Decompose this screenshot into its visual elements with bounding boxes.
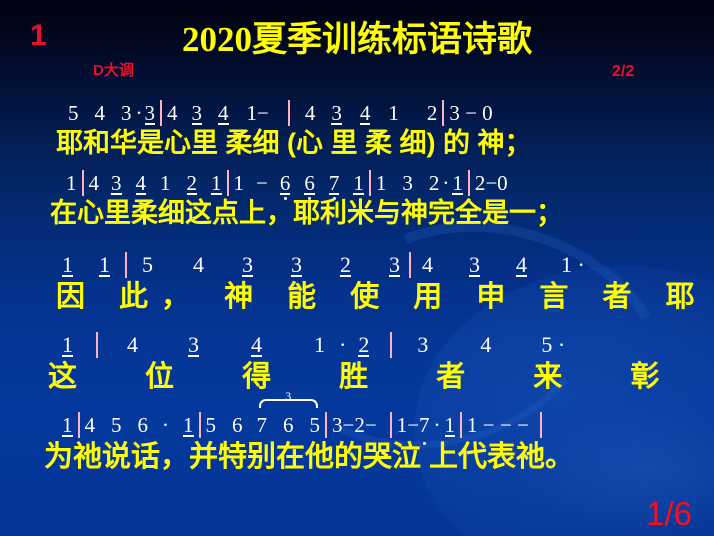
page-title: 2020夏季训练标语诗歌 [0, 20, 714, 60]
lyrics-line-1: 耶和华是心里 柔细 (心 里 柔 细) 的 神； [0, 126, 714, 160]
page-number: 1/6 [646, 497, 692, 530]
lyrics-line-4: 这 位 得 胜 者 来 彰 显 祂， [0, 358, 714, 396]
time-signature-label: 2/2 [612, 64, 634, 80]
notation-line-1: 543·34341−434123 − 0 [0, 100, 714, 126]
slide-canvas: 1 2020夏季训练标语诗歌 D大调 2/2 1/6 543·34341−434… [0, 0, 714, 536]
lyrics-line-2: 在心里柔细这点上，耶利米与神完全是一； [0, 196, 714, 230]
notation-row-4: 14341·2345 · 这 位 得 胜 者 来 彰 显 祂， [0, 332, 714, 396]
notation-line-3: 115433234341 · [0, 252, 714, 278]
notation-row-1: 543·34341−434123 − 0 耶和华是心里 柔细 (心 里 柔 细)… [0, 100, 714, 160]
lyrics-line-5: 为祂说话，并特别在他的哭泣 上代表祂。 [0, 438, 714, 476]
lyrics-line-3: 因 此， 神 能 使 用 申 言 者 耶 利 米 [0, 278, 714, 316]
notation-line-2: 14341211−6671132·12−0 [0, 170, 714, 196]
triplet-number: 3 [283, 391, 293, 402]
notation-row-3: 115433234341 · 因 此， 神 能 使 用 申 言 者 耶 利 米 [0, 252, 714, 316]
music-key-label: D大调 [93, 63, 134, 78]
notation-line-4: 14341·2345 · [0, 332, 714, 358]
notation-row-2: 14341211−6671132·12−0 在心里柔细这点上，耶利米与神完全是一… [0, 170, 714, 230]
notation-row-5: 1456·15637653−2−1−7·11 − − − 为祂说话，并特别在他的… [0, 412, 714, 476]
triplet-group: 3765 [257, 412, 321, 438]
notation-line-5: 1456·15637653−2−1−7·11 − − − [0, 412, 714, 438]
